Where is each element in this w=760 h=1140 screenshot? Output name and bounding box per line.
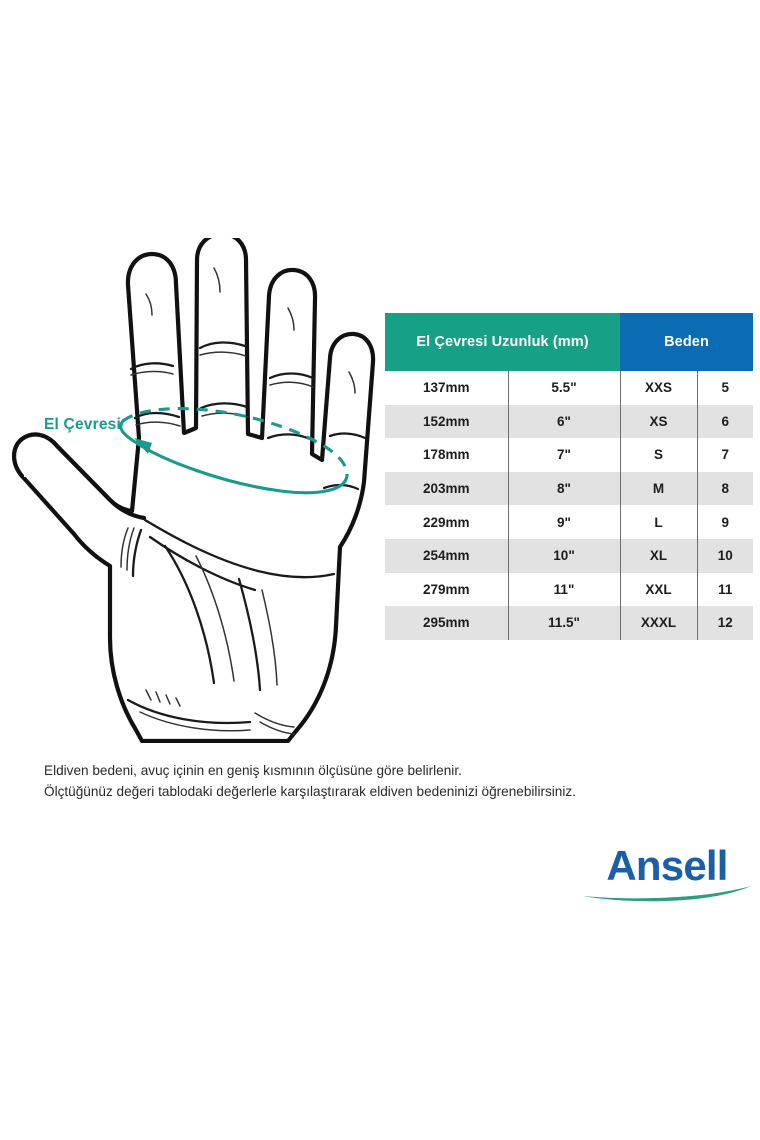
cell-inch: 9" <box>508 505 620 539</box>
note-line-1: Eldiven bedeni, avuç içinin en geniş kıs… <box>44 760 724 781</box>
hand-circumference-label: El Çevresi <box>44 416 121 434</box>
instructions-note: Eldiven bedeni, avuç içinin en geniş kıs… <box>44 760 724 802</box>
table-row: 152mm 6" XS 6 <box>385 405 753 439</box>
cell-mm: 229mm <box>385 505 508 539</box>
ansell-swoosh-icon <box>581 881 753 903</box>
cell-number: 6 <box>697 405 753 439</box>
cell-size: M <box>620 472 697 506</box>
cell-number: 12 <box>697 606 753 640</box>
cell-inch: 7" <box>508 438 620 472</box>
cell-size: L <box>620 505 697 539</box>
header-size: Beden <box>620 313 753 371</box>
hand-illustration <box>0 238 380 743</box>
cell-mm: 178mm <box>385 438 508 472</box>
cell-mm: 203mm <box>385 472 508 506</box>
cell-number: 5 <box>697 371 753 405</box>
cell-size: XXXL <box>620 606 697 640</box>
cell-mm: 279mm <box>385 573 508 607</box>
cell-number: 10 <box>697 539 753 573</box>
table-row: 203mm 8" M 8 <box>385 472 753 506</box>
table-header-row: El Çevresi Uzunluk (mm) Beden <box>385 313 753 371</box>
cell-inch: 6" <box>508 405 620 439</box>
cell-inch: 11" <box>508 573 620 607</box>
table-row: 295mm 11.5" XXXL 12 <box>385 606 753 640</box>
cell-number: 7 <box>697 438 753 472</box>
cell-inch: 10" <box>508 539 620 573</box>
cell-inch: 11.5" <box>508 606 620 640</box>
cell-mm: 295mm <box>385 606 508 640</box>
table-body: 137mm 5.5" XXS 5 152mm 6" XS 6 178mm 7" … <box>385 371 753 640</box>
cell-mm: 254mm <box>385 539 508 573</box>
table-row: 178mm 7" S 7 <box>385 438 753 472</box>
cell-inch: 5.5" <box>508 371 620 405</box>
cell-size: XL <box>620 539 697 573</box>
cell-size: XXL <box>620 573 697 607</box>
ansell-logo: Ansell <box>581 843 753 905</box>
cell-inch: 8" <box>508 472 620 506</box>
table-row: 229mm 9" L 9 <box>385 505 753 539</box>
table-row: 254mm 10" XL 10 <box>385 539 753 573</box>
cell-mm: 137mm <box>385 371 508 405</box>
cell-number: 8 <box>697 472 753 506</box>
cell-number: 11 <box>697 573 753 607</box>
cell-size: XS <box>620 405 697 439</box>
header-circumference: El Çevresi Uzunluk (mm) <box>385 313 620 371</box>
cell-size: S <box>620 438 697 472</box>
cell-number: 9 <box>697 505 753 539</box>
cell-size: XXS <box>620 371 697 405</box>
table-row: 137mm 5.5" XXS 5 <box>385 371 753 405</box>
glove-size-table: El Çevresi Uzunluk (mm) Beden 137mm 5.5"… <box>385 313 753 640</box>
note-line-2: Ölçtüğünüz değeri tablodaki değerlerle k… <box>44 781 724 802</box>
cell-mm: 152mm <box>385 405 508 439</box>
table-row: 279mm 11" XXL 11 <box>385 573 753 607</box>
